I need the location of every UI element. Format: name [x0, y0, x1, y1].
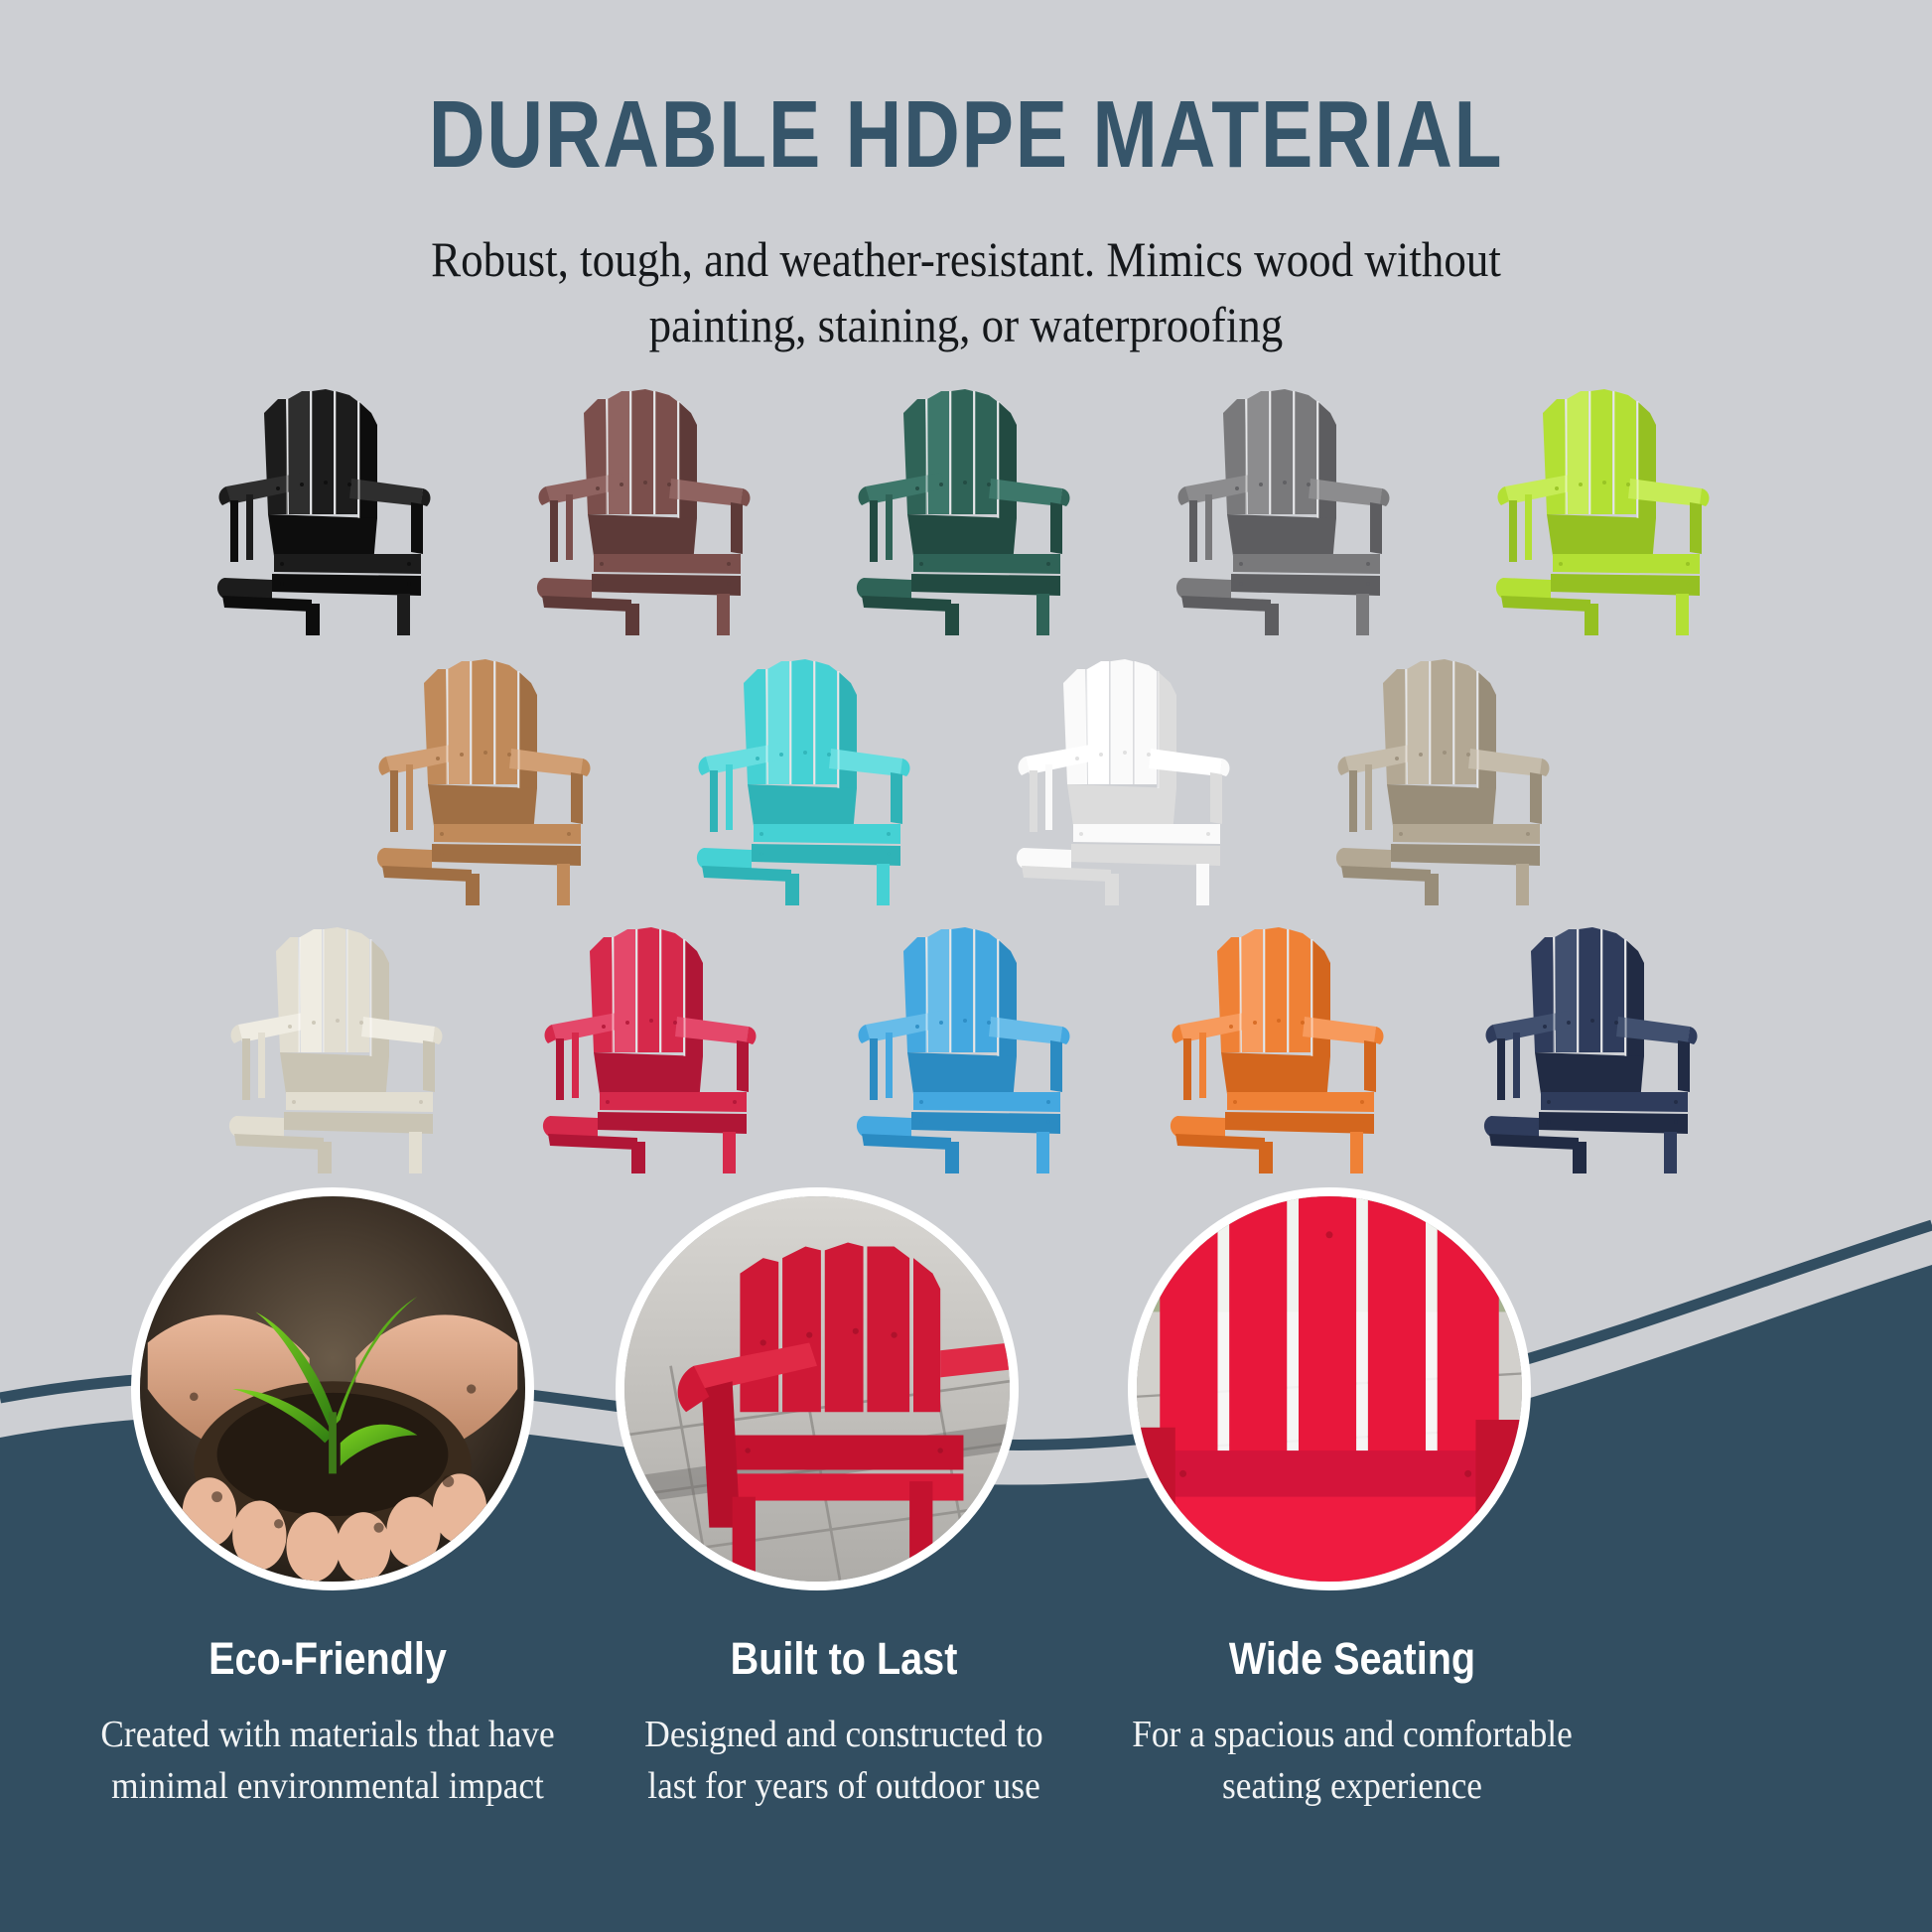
feature-desc-line-1: For a spacious and comfortable — [1094, 1709, 1611, 1760]
chair-swatch-ivory-cream[interactable] — [214, 907, 463, 1173]
adirondack-chair-icon — [1469, 907, 1718, 1173]
adirondack-chair-icon — [1162, 369, 1410, 635]
feature-block-eco-friendly: Eco-Friendly Created with materials that… — [50, 1636, 606, 1813]
adirondack-chair-icon — [214, 907, 463, 1173]
chair-swatch-light-blue[interactable] — [842, 907, 1090, 1173]
adirondack-chair-icon — [522, 369, 770, 635]
adirondack-chair-icon — [203, 369, 451, 635]
feature-desc-wide-seating: For a spacious and comfortable seating e… — [1094, 1709, 1611, 1813]
subtitle-line-2: painting, staining, or waterproofing — [358, 292, 1574, 357]
page-title: DURABLE HDPE MATERIAL — [174, 87, 1758, 183]
chair-swatch-orange[interactable] — [1156, 907, 1404, 1173]
chair-swatch-teak-tan[interactable] — [362, 639, 611, 905]
feature-block-built-to-last: Built to Last Designed and constructed t… — [566, 1636, 1122, 1813]
chair-row-1 — [0, 369, 1932, 635]
adirondack-chair-icon — [842, 369, 1090, 635]
feature-captions: Eco-Friendly Created with materials that… — [0, 1636, 1932, 1864]
feature-heading-built-to-last: Built to Last — [600, 1636, 1089, 1681]
feature-desc-line-2: minimal environmental impact — [69, 1760, 587, 1812]
adirondack-chair-icon — [1002, 639, 1250, 905]
adirondack-chair-icon — [842, 907, 1090, 1173]
adirondack-chair-icon — [1481, 369, 1729, 635]
hands-holding-seedling-icon — [140, 1196, 525, 1582]
chair-swatch-dark-green[interactable] — [842, 369, 1090, 635]
infographic-canvas: DURABLE HDPE MATERIAL Robust, tough, and… — [0, 0, 1932, 1932]
subtitle-line-1: Robust, tough, and weather-resistant. Mi… — [358, 226, 1574, 292]
feature-heading-wide-seating: Wide Seating — [1108, 1636, 1597, 1681]
feature-desc-line-2: last for years of outdoor use — [586, 1760, 1103, 1812]
adirondack-chair-icon — [362, 639, 611, 905]
adirondack-chair-icon — [1321, 639, 1570, 905]
red-chair-on-patio-icon — [624, 1196, 1010, 1582]
feature-photo-built-to-last — [616, 1187, 1019, 1590]
chair-row-2 — [0, 639, 1932, 905]
chair-swatch-dark-brown[interactable] — [522, 369, 770, 635]
feature-desc-built-to-last: Designed and constructed to last for yea… — [586, 1709, 1103, 1813]
feature-desc-eco-friendly: Created with materials that have minimal… — [69, 1709, 587, 1813]
feature-block-wide-seating: Wide Seating For a spacious and comforta… — [1074, 1636, 1630, 1813]
chair-swatch-lime-green[interactable] — [1481, 369, 1729, 635]
feature-heading-eco-friendly: Eco-Friendly — [83, 1636, 573, 1681]
feature-photo-wide-seating — [1128, 1187, 1531, 1590]
feature-desc-line-2: seating experience — [1094, 1760, 1611, 1812]
chair-swatch-black[interactable] — [203, 369, 451, 635]
chair-swatch-gray[interactable] — [1162, 369, 1410, 635]
chair-row-3 — [0, 907, 1932, 1173]
adirondack-chair-icon — [1156, 907, 1404, 1173]
chair-swatch-crimson-red[interactable] — [528, 907, 776, 1173]
chair-swatch-turquoise[interactable] — [682, 639, 930, 905]
feature-desc-line-1: Designed and constructed to — [586, 1709, 1103, 1760]
adirondack-chair-icon — [682, 639, 930, 905]
chair-swatch-beige-taupe[interactable] — [1321, 639, 1570, 905]
chair-color-grid — [0, 369, 1932, 1243]
chair-swatch-navy-blue[interactable] — [1469, 907, 1718, 1173]
feature-photo-eco-friendly — [131, 1187, 534, 1590]
red-chair-wide-seat-icon — [1137, 1196, 1522, 1582]
feature-desc-line-1: Created with materials that have — [69, 1709, 587, 1760]
feature-photos — [0, 1187, 1932, 1604]
chair-swatch-white[interactable] — [1002, 639, 1250, 905]
header: DURABLE HDPE MATERIAL Robust, tough, and… — [0, 87, 1932, 357]
subtitle: Robust, tough, and weather-resistant. Mi… — [358, 226, 1574, 357]
adirondack-chair-icon — [528, 907, 776, 1173]
